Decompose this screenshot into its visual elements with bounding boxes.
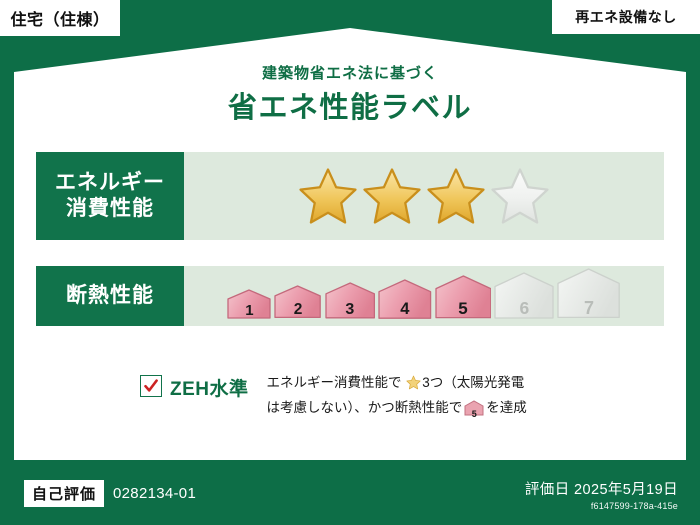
- inline-insulation-badge-number: 5: [464, 407, 484, 422]
- zeh-desc-line1-b: 3つ（太陽光発電: [422, 375, 524, 390]
- star-rating: [298, 166, 550, 226]
- row-insulation-label-line1: 断熱性能: [66, 283, 154, 309]
- insulation-badge-active: 2: [274, 285, 321, 323]
- evaluation-uid: f6147599-178a-415e: [525, 501, 678, 511]
- zeh-block: ZEH水準 エネルギー消費性能で 3つ（太陽光発電 は考慮しない）、かつ断熱性能…: [140, 372, 527, 423]
- row-energy-performance: エネルギー 消費性能: [36, 152, 664, 240]
- subtitle: 建築物省エネ法に基づく: [0, 62, 700, 83]
- zeh-description: エネルギー消費性能で 3つ（太陽光発電 は考慮しない）、かつ断熱性能で 5を達成: [267, 372, 527, 423]
- inline-star-icon: [403, 378, 422, 393]
- inline-insulation-badge: 5: [464, 400, 484, 423]
- row-energy-label: エネルギー 消費性能: [36, 152, 184, 240]
- zeh-checkbox[interactable]: [140, 375, 162, 397]
- self-evaluation-badge: 自己評価: [24, 480, 104, 507]
- zeh-desc-line2-b: を達成: [486, 400, 527, 415]
- row-energy-label-line1: エネルギー: [55, 170, 165, 196]
- page-title: 省エネ性能ラベル: [0, 84, 700, 126]
- renewable-energy-tag: 再エネ設備なし: [552, 0, 700, 34]
- insulation-badge-active: 4: [378, 279, 432, 324]
- insulation-badge-active: 3: [325, 282, 375, 324]
- zeh-desc-line2-a: は考慮しない）、かつ断熱性能で: [267, 400, 463, 415]
- evaluation-date-value: 2025年5月19日: [574, 482, 678, 498]
- row-insulation-label: 断熱性能: [36, 266, 184, 326]
- zeh-description-line1: エネルギー消費性能で 3つ（太陽光発電: [267, 372, 527, 397]
- zeh-desc-line1-a: エネルギー消費性能で: [267, 375, 402, 390]
- star-icon-filled: [362, 166, 422, 226]
- building-type-tag: 住宅（住棟）: [0, 0, 120, 36]
- row-energy-value: [184, 152, 664, 240]
- footer-right: 評価日 2025年5月19日 f6147599-178a-415e: [525, 478, 678, 511]
- insulation-level-scale: 1234567: [227, 268, 620, 323]
- evaluation-date: 評価日 2025年5月19日: [525, 478, 678, 499]
- insulation-badge-active: 5: [435, 275, 492, 324]
- star-icon-filled: [298, 166, 358, 226]
- energy-performance-label: 住宅（住棟） 再エネ設備なし 建築物省エネ法に基づく 省エネ性能ラベル エネルギ…: [0, 0, 700, 525]
- row-insulation-value: 1234567: [184, 266, 664, 326]
- star-icon-filled: [426, 166, 486, 226]
- zeh-description-line2: は考慮しない）、かつ断熱性能で 5を達成: [267, 397, 527, 423]
- row-insulation-performance: 断熱性能 1234567: [36, 266, 664, 326]
- zeh-label: ZEH水準: [170, 374, 249, 401]
- self-evaluation-id: 0282134-01: [113, 485, 196, 502]
- row-energy-label-line2: 消費性能: [66, 196, 154, 222]
- renewable-energy-tag-label: 再エネ設備なし: [575, 7, 677, 27]
- insulation-badge-inactive: 6: [494, 272, 554, 324]
- building-type-tag-label: 住宅（住棟）: [10, 6, 109, 30]
- footer-left: 自己評価 0282134-01: [24, 480, 196, 507]
- evaluation-date-label: 評価日: [525, 482, 570, 498]
- insulation-badge-inactive: 7: [557, 268, 620, 323]
- insulation-badge-active: 1: [227, 289, 271, 324]
- star-icon-empty: [490, 166, 550, 226]
- check-icon: [143, 378, 159, 394]
